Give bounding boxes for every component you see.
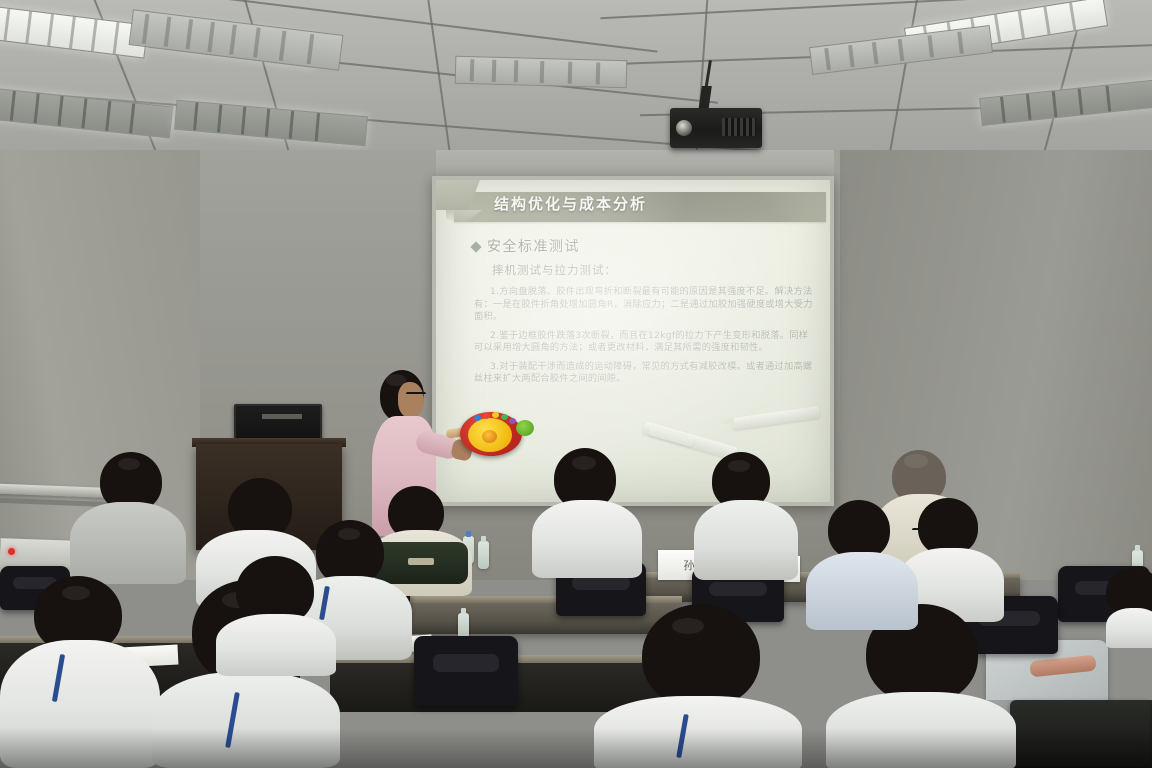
torso [806,552,918,630]
air-vent [455,56,628,88]
toy-hub [482,430,497,443]
hair-highlight [728,460,750,472]
audience-member [532,448,642,578]
hair-highlight [118,458,140,470]
audience-member [216,556,336,676]
ceiling-light-fixture [0,86,173,139]
head [642,604,760,708]
audience-member [806,500,918,630]
audience-member [694,452,798,580]
bag [1010,700,1150,766]
hair-highlight [572,456,596,470]
ceiling-light-fixture [979,78,1152,126]
torso [216,614,336,676]
ceiling-light-fixture [0,3,148,58]
monitor-glint [262,414,302,419]
toy-button [509,418,516,424]
diamond-bullet-icon [470,241,481,252]
air-vent [129,9,344,71]
hair-highlight [338,528,360,540]
presenter-face [398,382,424,418]
toy-button [483,413,490,419]
hair-highlight [904,454,928,468]
toy-button [501,414,508,420]
slide-body: 安全标准测试 摔机测试与拉力测试： 1.方向盘脱落、胶件出现弯折和断裂最有可能的… [470,236,814,392]
slide-sub-heading: 摔机测试与拉力测试： [492,262,814,278]
torso [152,672,340,768]
hair-highlight [62,586,90,600]
audience-member [594,604,802,768]
ceiling-projector [670,108,762,148]
lecture-room-photo: 结构优化与成本分析 安全标准测试 摔机测试与拉力测试： 1.方向盘脱落、胶件出现… [0,0,1152,768]
slide-paragraph: 3.对于装配干涉而造成的运动障碍，常见的方式有减胶改模。或者通过加高螺丝柱来扩大… [474,361,814,386]
presenter-glasses-icon [406,392,426,399]
hair-highlight [386,374,406,386]
torso [1106,608,1152,648]
slide-title: 结构优化与成本分析 [494,193,814,214]
slide-paragraph: 2.鉴于边框胶件跌落3次断裂，而且在12kgf的拉力下产生变形和脱落。同样可以采… [474,330,814,355]
torso [70,502,186,584]
projector-vent-grille [722,118,756,136]
audience-member [70,452,186,584]
status-led-icon [8,548,15,555]
torso [532,500,642,578]
torso [594,696,802,768]
ceiling-light-fixture [174,100,368,147]
toy-button [474,415,481,421]
slide-paragraph: 1.方向盘脱落、胶件出现弯折和断裂最有可能的原因是其强度不足。解决方法有：一是在… [474,286,814,324]
toy-button [492,412,499,418]
chair[interactable] [414,636,518,706]
projector-lens [676,120,692,136]
hair-highlight [672,618,704,634]
audience-member [1106,568,1152,648]
torso [826,692,1016,768]
air-vent [809,25,993,75]
slide-bullet-heading-text: 安全标准测试 [487,239,580,255]
water-bottle [478,541,489,569]
head [828,500,890,560]
ceiling [0,0,1152,175]
toy-steering-wheel [452,406,530,462]
audience-member [0,576,160,768]
torso [0,640,160,768]
torso [694,500,798,580]
slide-bullet-heading: 安全标准测试 [472,236,814,256]
toy-wing [516,420,534,436]
